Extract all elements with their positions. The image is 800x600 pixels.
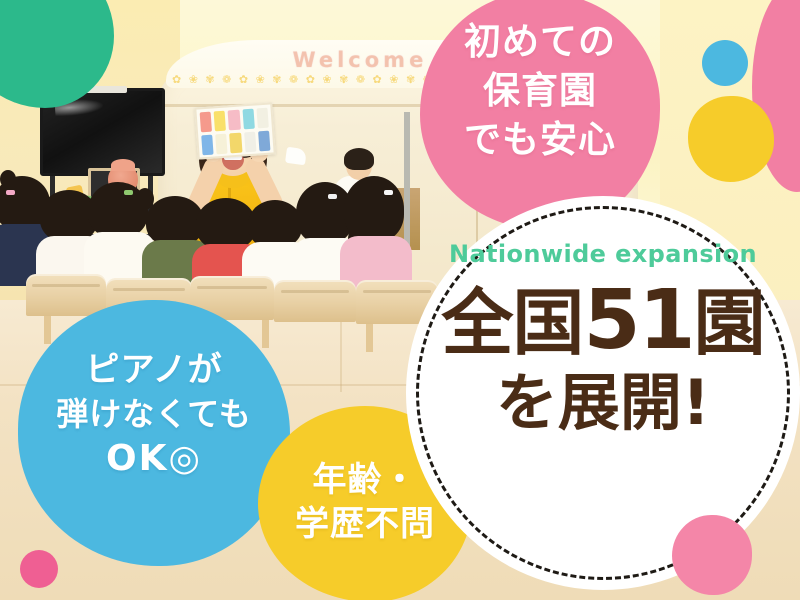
headline-suffix: 園 [694,287,765,359]
child-chair [26,274,106,316]
child [344,176,408,294]
blue-bubble-line-3: OK◎ [18,435,290,483]
blue-dot-decor [702,40,748,86]
headline-prefix: 全国 [441,287,583,359]
pink-bubble-line-1: 初めての [420,18,660,67]
pink-bubble-text: 初めての 保育園 でも安心 [420,18,660,164]
picture-card [194,102,275,159]
highlight-headline: 全国 51 園 [441,280,764,362]
picture-card-row [200,108,269,133]
pink-bubble-line-2: 保育園 [420,67,660,116]
blue-message-bubble: ピアノが 弾けなくても OK◎ [18,300,290,566]
chair-leg [366,324,373,352]
poster-canvas: Welcome to S ✿ ❀ ✾ ❁ ✿ ❀ ✾ ❁ ✿ ❀ ✾ ❁ ✿ ❀… [0,0,800,600]
blue-bubble-text: ピアノが 弾けなくても OK◎ [18,348,290,483]
pink-dot-large-decor [672,515,752,595]
chair-leg [262,320,269,348]
child-chair [274,280,356,322]
picture-card-row [201,131,270,156]
yellow-dot-decor [688,96,774,182]
background-staff-hair [344,148,374,170]
pink-bubble-line-3: でも安心 [420,116,660,165]
blue-bubble-line-1: ピアノが [18,348,290,393]
blue-bubble-line-2: 弾けなくても [18,393,290,435]
chair-leg [44,316,51,344]
pink-dot-small-decor [20,550,58,588]
highlight-subtitle: Nationwide expansion [449,240,757,268]
headline-number: 51 [583,280,693,362]
highlight-headline-line2: を展開! [496,372,710,434]
